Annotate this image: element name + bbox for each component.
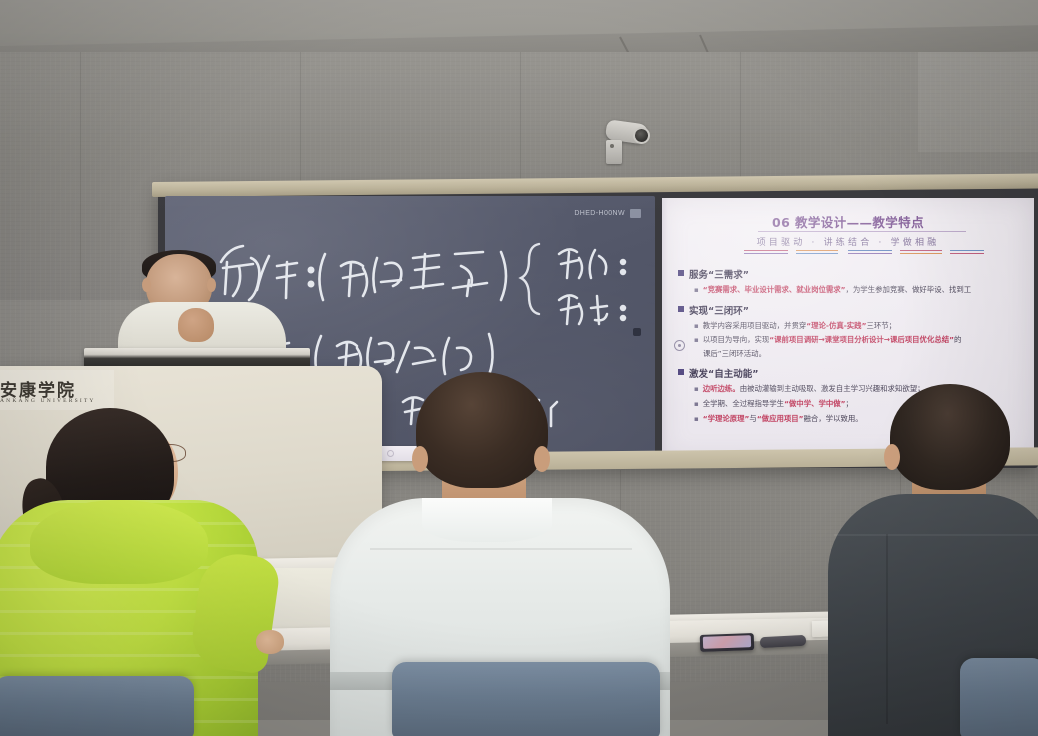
wall-seam: [740, 52, 741, 184]
slide-subtitle-underlines: [744, 250, 984, 257]
bullet-highlight: “理论-仿真-实践”: [806, 321, 866, 330]
slide-heading: 实现“三闭环”: [678, 303, 1026, 317]
camera-led-icon: [610, 144, 614, 148]
classroom-photo: DHED-H00NW 06 教学设计——教学特点 项目驱动 · 讲练结合 · 学…: [0, 0, 1038, 736]
slide-title-rule: [758, 231, 966, 232]
attendee-center-shirt-yoke: [370, 548, 632, 550]
attendee-center-hair: [416, 372, 548, 488]
bullet-dot-icon: ▪: [694, 321, 699, 332]
university-sign: 安康学院 ANKANG UNIVERSITY: [0, 370, 114, 410]
display-badge-icon: [630, 209, 641, 218]
chair-center[interactable]: [392, 662, 660, 736]
attendee-right-arm-seam: [886, 534, 888, 724]
instructor-ear: [142, 278, 151, 292]
smartphone[interactable]: [700, 633, 755, 652]
attendee-center-collar: [422, 498, 552, 542]
university-name-en: ANKANG UNIVERSITY: [0, 398, 96, 404]
bullet-square-icon: [678, 306, 684, 312]
chair-left[interactable]: [0, 676, 194, 736]
attendee-center-ear: [534, 446, 550, 472]
bullet-highlight: “课前项目调研→课堂项目分析设计→课后项目优化总结”: [769, 335, 954, 344]
wall-seam: [520, 52, 521, 184]
bullet-dot-icon: ▪: [694, 384, 699, 395]
chair-right[interactable]: [960, 658, 1038, 736]
bullet-text: 三环节；: [866, 321, 896, 330]
instructor-ear: [207, 278, 216, 292]
bullet-text: 的: [954, 335, 961, 344]
bullet-square-icon: [678, 270, 684, 276]
attendee-right-ear: [884, 444, 900, 470]
display-sensor-icon: [633, 328, 641, 336]
bullet-highlight: “竞赛需求、毕业设计需求、就业岗位需求”: [703, 285, 846, 294]
security-camera: [600, 118, 660, 170]
bullet-highlight: “做应用项目”: [757, 414, 804, 423]
slide-heading-text: 激发“自主动能”: [689, 366, 759, 380]
slide-heading: 激发“自主动能”: [678, 366, 1026, 380]
attendee-left-hood: [30, 500, 208, 584]
slide-title: 06 教学设计——教学特点: [662, 212, 1034, 231]
bullet-dot-icon: ▪: [694, 399, 699, 410]
bullet-text: ，为学生参加竞赛、做好毕设、找到工: [846, 285, 972, 294]
display-model-label: DHED-H00NW: [574, 210, 625, 217]
bullet-text: 与: [749, 414, 756, 423]
slide-bullet-continuation: 课后”三闭环活动。: [703, 348, 1026, 359]
wall-right-highlight: [918, 52, 1038, 152]
bullet-text: 教学内容采用项目驱动，并贯穿: [703, 321, 806, 330]
slide-bullet: ▪ 以项目为导向，实现“课前项目调研→课堂项目分析设计→课后项目优化总结”的: [694, 335, 1026, 346]
smartphone-screen: [703, 635, 751, 649]
bullet-text: 全学期、全过程指导学生: [703, 399, 784, 408]
instructor-hand: [178, 308, 214, 342]
slide-cursor-icon: [674, 340, 685, 351]
attendee-right-hair: [890, 384, 1010, 490]
wall-seam: [80, 52, 81, 300]
camera-mount: [606, 140, 622, 164]
attendee-right-shoulder-seam: [834, 534, 1038, 536]
bullet-dot-icon: ▪: [694, 335, 699, 346]
slide-subtitle: 项目驱动 · 讲练结合 · 学做相融: [662, 235, 1034, 248]
bullet-highlight: “学理论原理”: [703, 414, 750, 423]
bullet-highlight: 边听边练。: [703, 384, 740, 393]
slide-heading-text: 服务“三需求”: [689, 267, 749, 281]
bullet-text: 以项目为导向，实现: [703, 335, 770, 344]
slide-heading: 服务“三需求”: [678, 267, 1026, 281]
attendee-center-ear: [412, 446, 428, 472]
wall-seam: [300, 52, 301, 184]
slide-heading-text: 实现“三闭环”: [689, 303, 749, 317]
bullet-dot-icon: ▪: [694, 285, 699, 296]
slide-bullet: ▪ “竞赛需求、毕业设计需求、就业岗位需求”，为学生参加竞赛、做好毕设、找到工: [694, 285, 1026, 296]
attendee-left-hand: [256, 630, 284, 654]
slide-bullet: ▪ 教学内容采用项目驱动，并贯穿“理论-仿真-实践”三环节；: [694, 321, 1026, 332]
bullet-dot-icon: ▪: [694, 414, 699, 425]
